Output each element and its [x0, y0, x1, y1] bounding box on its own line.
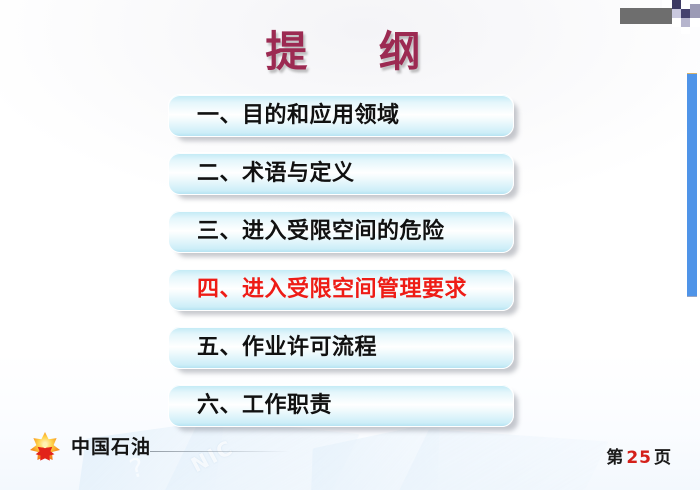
footer-branding: 中国石油 [28, 430, 151, 464]
outline-item-1[interactable]: 一、目的和应用领域 [168, 94, 514, 137]
decor-square-3 [681, 0, 690, 9]
outline-item-label: 一、目的和应用领域 [169, 105, 400, 127]
outline-item-label: 五、作业许可流程 [169, 337, 377, 359]
page-number-suffix: 页 [654, 448, 672, 468]
outline-row: 二、术语与定义 [168, 152, 520, 195]
outline-item-5[interactable]: 五、作业许可流程 [168, 326, 514, 369]
decor-square-5 [681, 9, 690, 18]
outline-item-2[interactable]: 二、术语与定义 [168, 152, 514, 195]
outline-item-label: 四、进入受限空间管理要求 [169, 279, 467, 301]
page-title: 提 纲 [0, 18, 700, 79]
outline-item-label: 六、工作职责 [169, 395, 332, 417]
brand-name: 中国石油 [71, 438, 151, 457]
petrochina-sunburst-logo-icon [28, 430, 62, 464]
outline-item-6[interactable]: 六、工作职责 [168, 384, 514, 427]
outline-item-label: 三、进入受限空间的危险 [169, 221, 445, 243]
outline-row: 三、进入受限空间的危险 [168, 210, 520, 253]
outline-list: 一、目的和应用领域二、术语与定义三、进入受限空间的危险四、进入受限空间管理要求五… [168, 94, 520, 442]
blue-side-accent-bar [687, 73, 697, 297]
decor-square-2 [672, 0, 681, 9]
slide-canvas: NIC ? 提 纲 一、目的和应用领域二、术语与定义三、进入受限空间的危险四、进… [0, 0, 700, 490]
decor-square-4 [672, 9, 681, 18]
outline-row: 六、工作职责 [168, 384, 520, 427]
decor-square-6 [690, 4, 700, 18]
page-number: 第25页 [606, 443, 672, 468]
footer-divider [150, 451, 290, 452]
decor-square-11 [662, 0, 672, 8]
outline-row: 一、目的和应用领域 [168, 94, 520, 137]
outline-item-4[interactable]: 四、进入受限空间管理要求 [168, 268, 514, 311]
outline-row: 五、作业许可流程 [168, 326, 520, 369]
outline-row: 四、进入受限空间管理要求 [168, 268, 520, 311]
page-number-prefix: 第 [606, 448, 624, 468]
outline-item-label: 二、术语与定义 [169, 163, 355, 185]
page-number-value: 25 [624, 448, 654, 468]
outline-item-3[interactable]: 三、进入受限空间的危险 [168, 210, 514, 253]
